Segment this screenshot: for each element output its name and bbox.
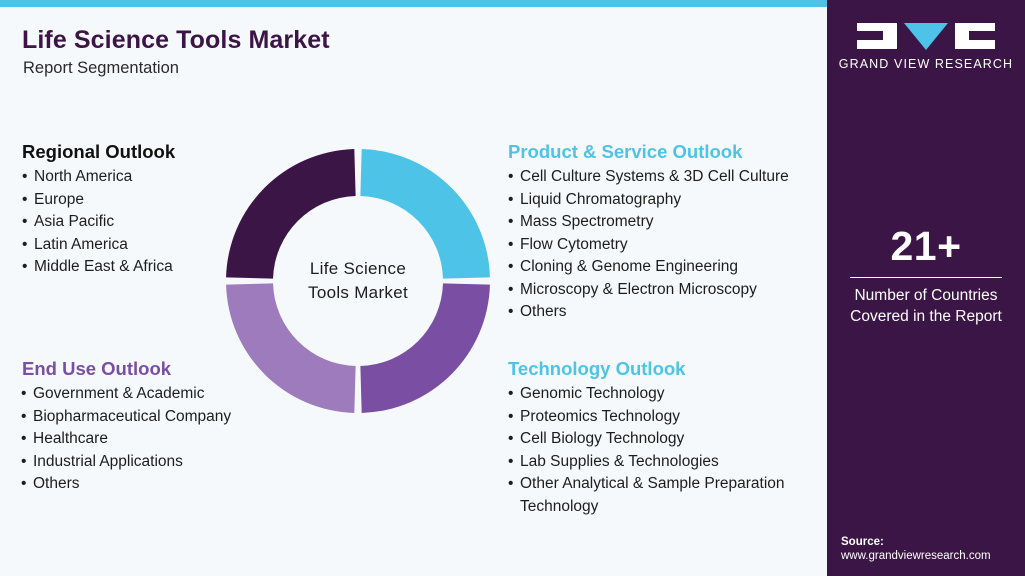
logo-right-bracket-icon (955, 23, 995, 49)
list-item: Others (21, 473, 246, 496)
list-item: Liquid Chromatography (508, 189, 818, 212)
logo: GRAND VIEW RESEARCH (827, 22, 1025, 71)
source-label: Source: (841, 536, 1025, 548)
list-item: Mass Spectrometry (508, 211, 818, 234)
logo-text: GRAND VIEW RESEARCH (827, 57, 1025, 71)
list-item: Biopharmaceutical Company (21, 406, 246, 429)
logo-left-bracket-icon (857, 23, 897, 49)
list-item: Cell Culture Systems & 3D Cell Culture (508, 166, 818, 189)
source-block: Source: www.grandviewresearch.com (827, 536, 1025, 562)
list-item: Asia Pacific (22, 211, 252, 234)
list-item: Healthcare (21, 428, 246, 451)
brand-panel: GRAND VIEW RESEARCH 21+ Number of Countr… (827, 0, 1025, 576)
list-item: Proteomics Technology (508, 406, 808, 429)
list-item: Latin America (22, 234, 252, 257)
section-list-regional: North America Europe Asia Pacific Latin … (22, 166, 252, 279)
list-item: Europe (22, 189, 252, 212)
section-heading-end-use: End Use Outlook (22, 358, 171, 380)
page-subtitle: Report Segmentation (23, 59, 179, 78)
list-item: Cell Biology Technology (508, 428, 808, 451)
section-heading-regional: Regional Outlook (22, 141, 175, 163)
section-list-technology: Genomic Technology Proteomics Technology… (508, 383, 808, 518)
list-item: Lab Supplies & Technologies (508, 451, 808, 474)
list-item: Genomic Technology (508, 383, 808, 406)
list-item: Middle East & Africa (22, 256, 252, 279)
stat-caption-line-2: Covered in the Report (827, 307, 1025, 328)
list-item: Others (508, 301, 818, 324)
list-item: Flow Cytometry (508, 234, 818, 257)
donut-center-line-2: Tools Market (308, 281, 408, 305)
stat-divider (850, 277, 1002, 278)
logo-marks (827, 22, 1025, 50)
list-item: Microscopy & Electron Microscopy (508, 279, 818, 302)
source-url[interactable]: www.grandviewresearch.com (841, 550, 1025, 562)
stat-value: 21+ (827, 225, 1025, 268)
list-item: Government & Academic (21, 383, 246, 406)
stat-block: 21+ Number of Countries Covered in the R… (827, 225, 1025, 327)
section-heading-product-service: Product & Service Outlook (508, 141, 742, 163)
list-item: Other Analytical & Sample Preparation Te… (508, 473, 808, 518)
page-title: Life Science Tools Market (22, 26, 330, 55)
list-item: Cloning & Genome Engineering (508, 256, 818, 279)
list-item: Industrial Applications (21, 451, 246, 474)
infographic-page: Life Science Tools Market Report Segment… (0, 0, 1025, 576)
donut-center-line-1: Life Science (310, 257, 406, 281)
list-item: North America (22, 166, 252, 189)
logo-triangle-icon (904, 23, 948, 50)
section-list-end-use: Government & Academic Biopharmaceutical … (21, 383, 246, 496)
section-list-product-service: Cell Culture Systems & 3D Cell Culture L… (508, 166, 818, 324)
stat-caption-line-1: Number of Countries (827, 286, 1025, 307)
section-heading-technology: Technology Outlook (508, 358, 685, 380)
donut-center-label: Life Science Tools Market (222, 145, 494, 417)
